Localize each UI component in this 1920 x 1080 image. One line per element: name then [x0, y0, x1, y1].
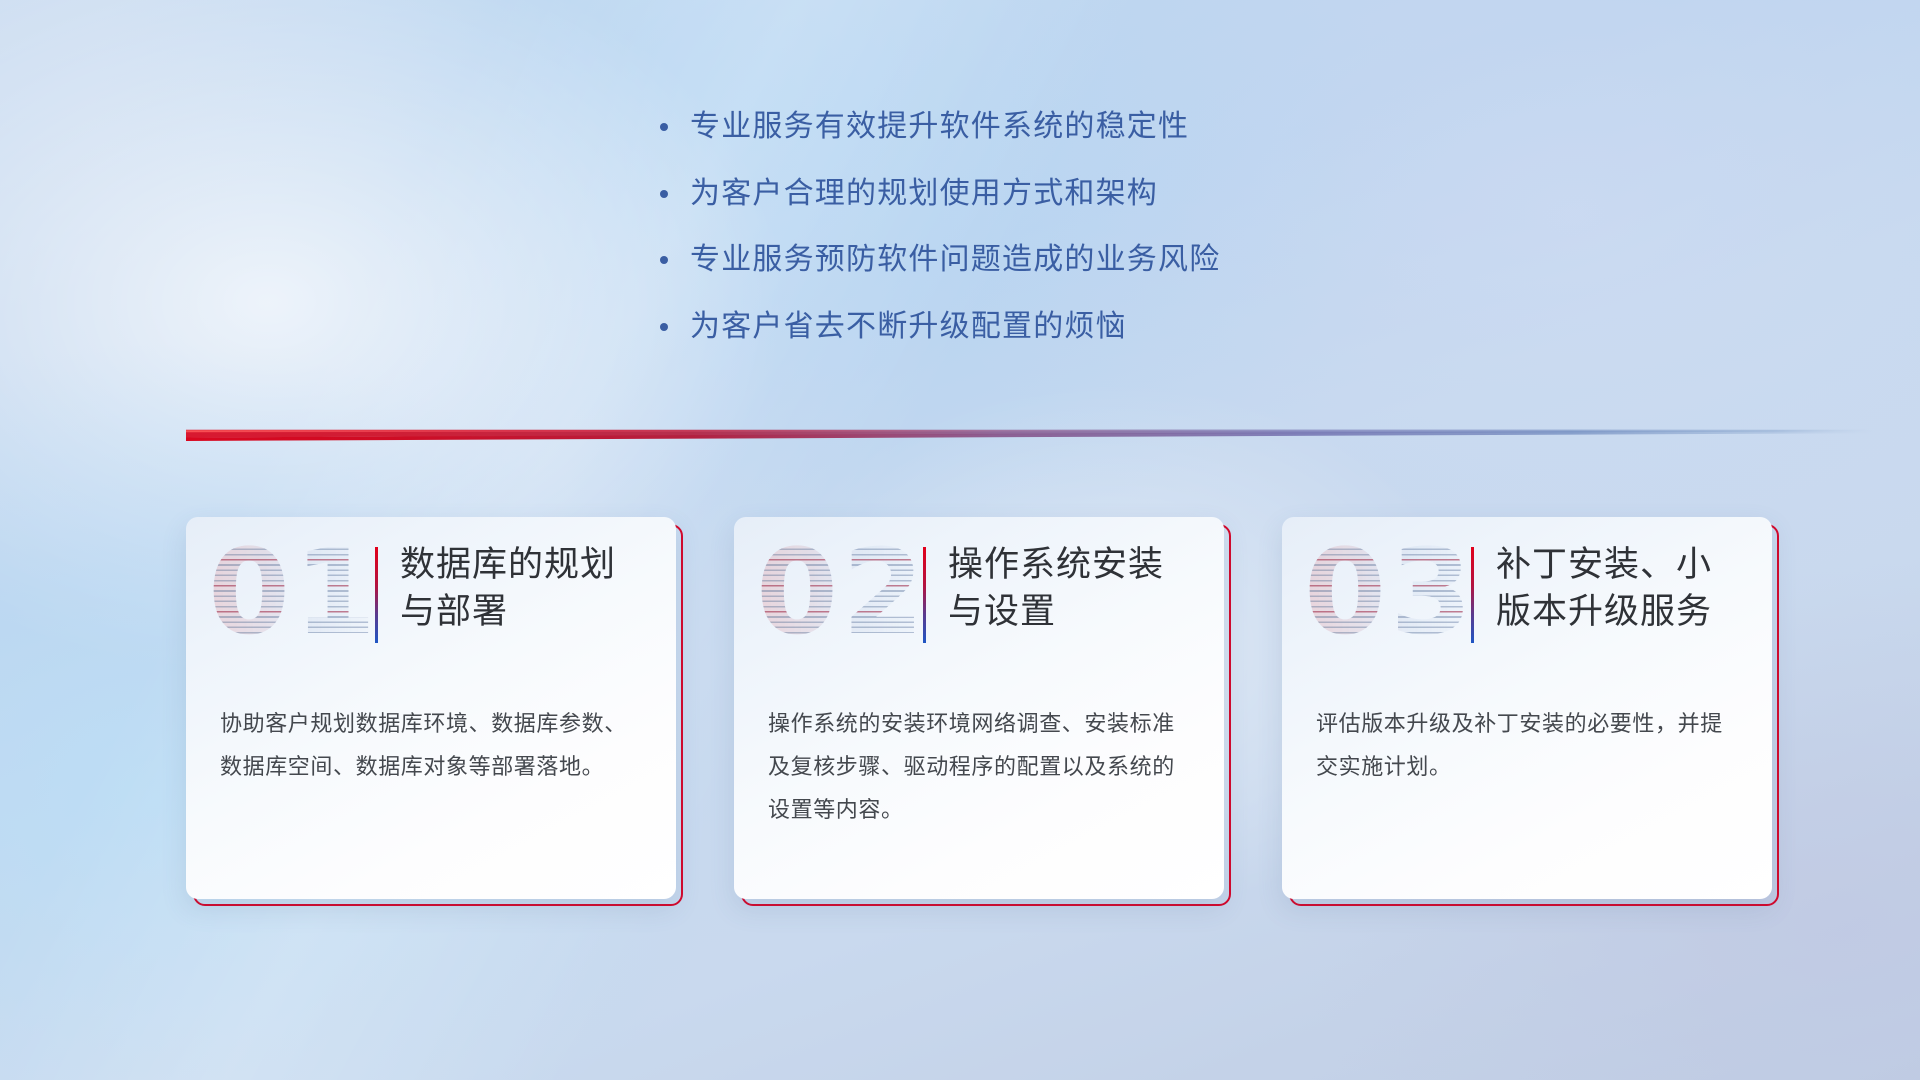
card-number: 02 [756, 533, 928, 651]
card-title-group: 操作系统安装与设置 [923, 541, 1198, 643]
bullet-text: 为客户省去不断升级配置的烦恼 [690, 308, 1127, 346]
slide-canvas: 专业服务有效提升软件系统的稳定性 为客户合理的规划使用方式和架构 专业服务预防软… [0, 0, 1920, 1080]
card-face: 01 01 数据库的规划与部署 协助客户规划数据库环境、数据库参数、数据库空间、… [186, 517, 676, 899]
card-face: 03 03 补丁安装、小版本升级服务 评估版本升级及补丁安装的必要性，并提交实施… [1282, 517, 1772, 899]
list-item: 为客户合理的规划使用方式和架构 [660, 175, 1620, 213]
list-item: 专业服务预防软件问题造成的业务风险 [660, 241, 1620, 279]
bullet-text: 专业服务有效提升软件系统的稳定性 [690, 108, 1189, 146]
card-title-group: 补丁安装、小版本升级服务 [1471, 541, 1746, 643]
title-accent-bar [1471, 547, 1474, 643]
bullet-dot-icon [660, 113, 690, 131]
card-title: 补丁安装、小版本升级服务 [1496, 541, 1746, 636]
divider [186, 420, 1876, 442]
card-title-group: 数据库的规划与部署 [375, 541, 650, 643]
card-number: 03 [1304, 533, 1476, 651]
card-header: 01 01 数据库的规划与部署 [186, 517, 676, 677]
bullet-text: 专业服务预防软件问题造成的业务风险 [690, 241, 1220, 279]
bullet-dot-icon [660, 180, 690, 198]
card-02[interactable]: 02 02 操作系统安装与设置 操作系统的安装环境网络调查、安装标准及复核步骤、… [734, 517, 1224, 899]
card-body-text: 评估版本升级及补丁安装的必要性，并提交实施计划。 [1316, 703, 1742, 789]
divider-shape [186, 420, 1876, 442]
card-03[interactable]: 03 03 补丁安装、小版本升级服务 评估版本升级及补丁安装的必要性，并提交实施… [1282, 517, 1772, 899]
card-title: 操作系统安装与设置 [948, 541, 1198, 636]
card-face: 02 02 操作系统安装与设置 操作系统的安装环境网络调查、安装标准及复核步骤、… [734, 517, 1224, 899]
bullet-list: 专业服务有效提升软件系统的稳定性 为客户合理的规划使用方式和架构 专业服务预防软… [660, 108, 1620, 374]
bullet-dot-icon [660, 246, 690, 264]
title-accent-bar [375, 547, 378, 643]
list-item: 专业服务有效提升软件系统的稳定性 [660, 108, 1620, 146]
card-body-text: 操作系统的安装环境网络调查、安装标准及复核步骤、驱动程序的配置以及系统的设置等内… [768, 703, 1194, 832]
bullet-text: 为客户合理的规划使用方式和架构 [690, 175, 1158, 213]
card-list: 01 01 数据库的规划与部署 协助客户规划数据库环境、数据库参数、数据库空间、… [186, 517, 1846, 899]
card-number: 01 [208, 533, 380, 651]
card-title: 数据库的规划与部署 [400, 541, 650, 636]
card-header: 02 02 操作系统安装与设置 [734, 517, 1224, 677]
list-item: 为客户省去不断升级配置的烦恼 [660, 308, 1620, 346]
card-01[interactable]: 01 01 数据库的规划与部署 协助客户规划数据库环境、数据库参数、数据库空间、… [186, 517, 676, 899]
title-accent-bar [923, 547, 926, 643]
bullet-dot-icon [660, 313, 690, 331]
card-header: 03 03 补丁安装、小版本升级服务 [1282, 517, 1772, 677]
card-body-text: 协助客户规划数据库环境、数据库参数、数据库空间、数据库对象等部署落地。 [220, 703, 646, 789]
